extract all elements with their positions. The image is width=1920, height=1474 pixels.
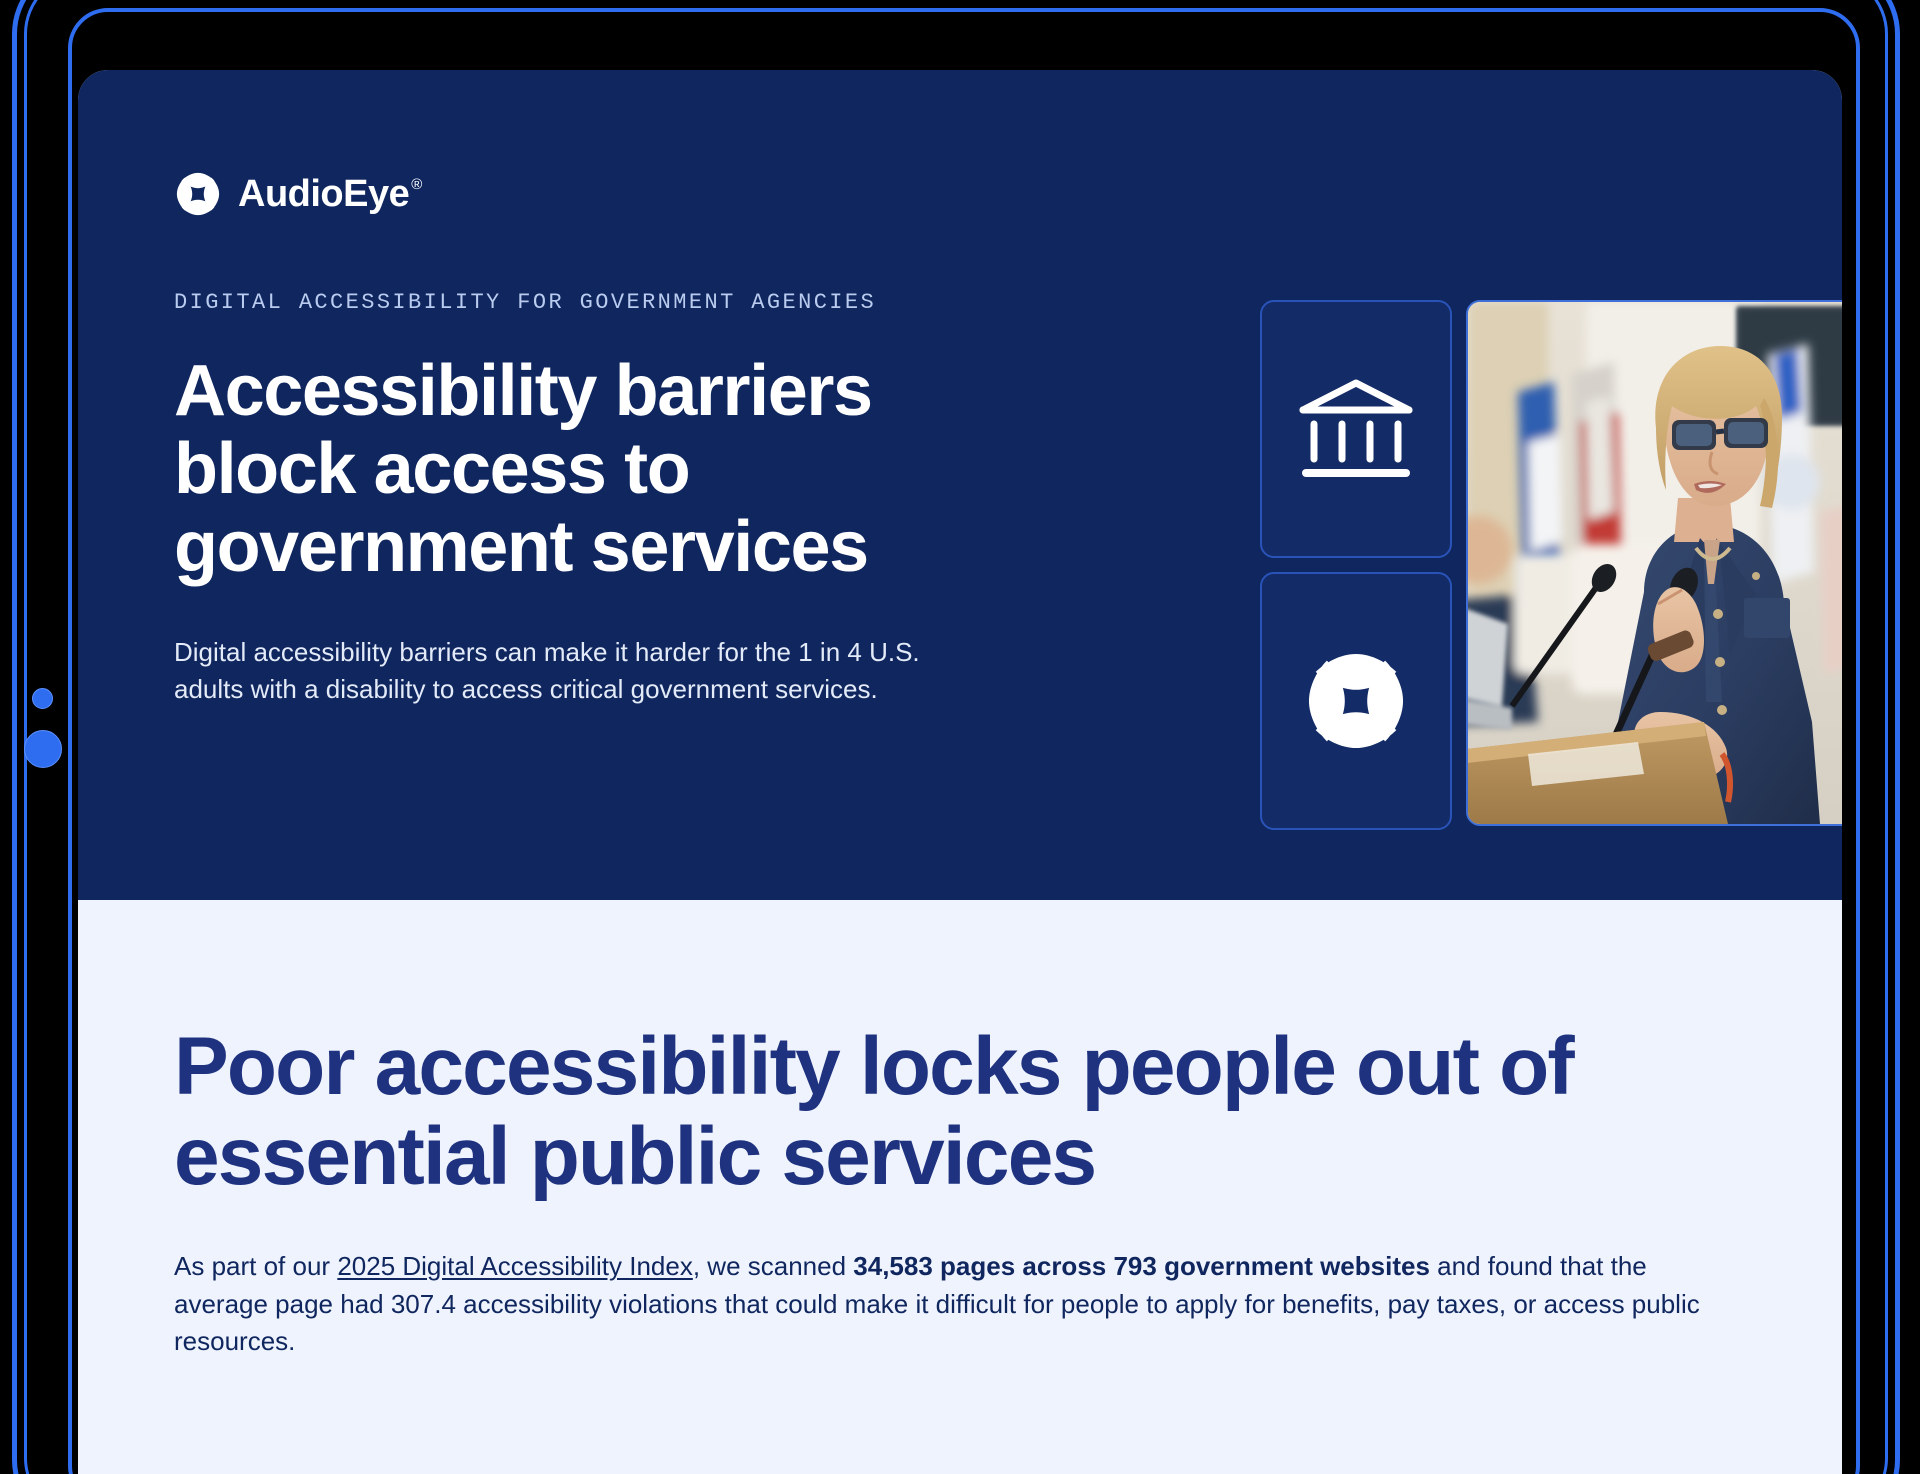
body-lead: As part of our bbox=[174, 1251, 337, 1281]
tablet-screen: AudioEye® DIGITAL ACCESSIBILITY FOR GOVE… bbox=[78, 70, 1842, 1474]
body-stat-bold: 34,583 pages across 793 government websi… bbox=[853, 1251, 1430, 1281]
audioeye-logo[interactable]: AudioEye® bbox=[174, 170, 1074, 218]
audioeye-mark-card bbox=[1260, 572, 1452, 830]
registered-mark: ® bbox=[411, 177, 422, 192]
power-button[interactable] bbox=[24, 730, 62, 768]
hero-section: AudioEye® DIGITAL ACCESSIBILITY FOR GOVE… bbox=[78, 70, 1842, 900]
audioeye-logo-icon bbox=[174, 170, 222, 218]
government-building-card bbox=[1260, 300, 1452, 558]
section-title: Poor accessibility locks people out of e… bbox=[174, 1022, 1734, 1202]
icon-card-column bbox=[1260, 300, 1452, 830]
stats-section: Poor accessibility locks people out of e… bbox=[78, 900, 1842, 1474]
hero-content: AudioEye® DIGITAL ACCESSIBILITY FOR GOVE… bbox=[174, 170, 1074, 708]
section-body: As part of our 2025 Digital Accessibilit… bbox=[174, 1248, 1746, 1360]
body-after-link: , we scanned bbox=[693, 1251, 853, 1281]
hero-title: Accessibility barriers block access to g… bbox=[174, 353, 964, 586]
hero-media bbox=[1260, 300, 1842, 830]
speaker-at-podium-photo bbox=[1466, 300, 1842, 826]
accessibility-index-link[interactable]: 2025 Digital Accessibility Index bbox=[337, 1251, 693, 1281]
audioeye-mark-icon bbox=[1300, 645, 1412, 757]
government-building-icon bbox=[1297, 377, 1415, 481]
screenshot-stage: AudioEye® DIGITAL ACCESSIBILITY FOR GOVE… bbox=[0, 0, 1920, 1474]
logo-word-text: AudioEye bbox=[238, 175, 409, 213]
volume-button[interactable] bbox=[32, 688, 53, 709]
hero-eyebrow: DIGITAL ACCESSIBILITY FOR GOVERNMENT AGE… bbox=[174, 290, 1074, 315]
hero-subtitle: Digital accessibility barriers can make … bbox=[174, 634, 994, 708]
audioeye-wordmark: AudioEye® bbox=[238, 175, 422, 213]
